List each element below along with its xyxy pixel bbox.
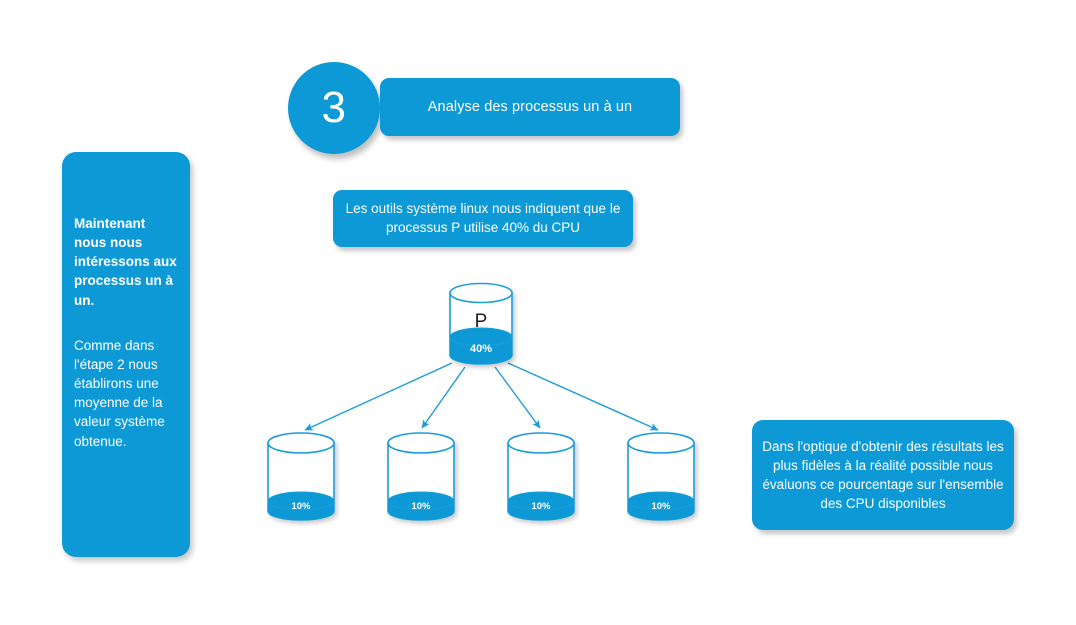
arrow-to-child-3 <box>495 367 540 428</box>
arrow-group <box>305 363 658 430</box>
step-title-banner: Analyse des processus un à un <box>380 78 680 136</box>
child-4-percent-label: 10% <box>651 501 671 512</box>
child-2-percent-label: 10% <box>411 501 431 512</box>
process-distribution-diagram: P 40% 10% 10% 10% 10% <box>250 275 710 535</box>
child-cpu-cylinder-1: 10% <box>268 433 334 520</box>
callout-linux-tools-label: Les outils système linux nous indiquent … <box>341 200 625 238</box>
step-number-label: 3 <box>322 86 347 130</box>
child-1-percent-label: 10% <box>291 501 311 512</box>
arrow-to-child-1 <box>305 363 452 430</box>
step-number-badge: 3 <box>288 62 380 154</box>
step-title-label: Analyse des processus un à un <box>428 99 632 115</box>
sidebar-note-panel: Maintenant nous nous intéressons aux pro… <box>62 152 190 557</box>
callout-cpu-availability-label: Dans l'optique d'obtenir des résultats l… <box>760 437 1006 514</box>
child-cpu-cylinder-4: 10% <box>628 433 694 520</box>
arrow-to-child-4 <box>508 363 658 430</box>
sidebar-body-text: Comme dans l'étape 2 nous établirons une… <box>74 336 178 451</box>
parent-process-cylinder: P 40% <box>450 284 512 365</box>
callout-cpu-availability: Dans l'optique d'obtenir des résultats l… <box>752 420 1014 530</box>
callout-linux-tools: Les outils système linux nous indiquent … <box>333 190 633 247</box>
child-cpu-cylinder-2: 10% <box>388 433 454 520</box>
parent-cylinder-name-label: P <box>475 311 488 332</box>
arrow-to-child-2 <box>422 367 465 428</box>
sidebar-lead-text: Maintenant nous nous intéressons aux pro… <box>74 214 178 310</box>
child-cpu-cylinder-3: 10% <box>508 433 574 520</box>
parent-cylinder-percent-label: 40% <box>470 343 492 355</box>
child-3-percent-label: 10% <box>531 501 551 512</box>
